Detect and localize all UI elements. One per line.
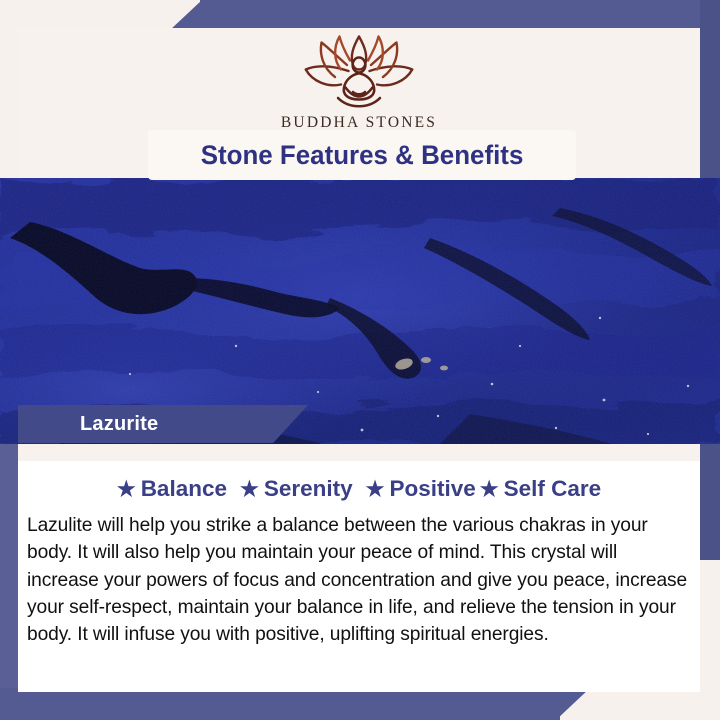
stone-description: Lazulite will help you strike a balance …: [27, 512, 693, 648]
stone-name-banner: Lazurite: [18, 405, 308, 443]
star-icon: ★: [480, 479, 499, 500]
benefit-item-serenity: ★ Serenity: [240, 476, 353, 502]
lotus-meditation-logo-icon: [283, 32, 435, 110]
frame-band-top-notch: [170, 0, 202, 30]
stone-name: Lazurite: [80, 413, 158, 436]
stone-info-card: BUDDHA STONES: [0, 0, 720, 720]
frame-band-bottom-notch: [556, 688, 590, 720]
lazurite-stone-image: [0, 178, 720, 444]
stone-details-panel: ★ Balance ★ Serenity ★ Positive ★ Self C…: [18, 444, 700, 692]
benefit-label: Self Care: [504, 476, 602, 502]
frame-band-top: [200, 0, 720, 30]
stone-photo: [0, 178, 720, 444]
panel-top-divider: [18, 444, 700, 461]
frame-band-bottom: [0, 688, 560, 720]
page-title: Stone Features & Benefits: [201, 140, 524, 171]
benefit-label: Positive: [389, 476, 475, 502]
benefit-item-balance: ★ Balance: [117, 476, 227, 502]
star-icon: ★: [240, 479, 259, 500]
benefit-item-positive: ★ Positive: [366, 476, 476, 502]
benefits-row: ★ Balance ★ Serenity ★ Positive ★ Self C…: [18, 476, 700, 502]
star-icon: ★: [366, 479, 385, 500]
star-icon: ★: [117, 479, 136, 500]
frame-band-left: [0, 443, 18, 720]
benefit-item-self-care: ★ Self Care: [480, 476, 601, 502]
benefit-label: Serenity: [264, 476, 353, 502]
page-title-plaque: Stone Features & Benefits: [148, 130, 576, 180]
brand-logo: BUDDHA STONES: [18, 32, 700, 132]
benefit-label: Balance: [141, 476, 227, 502]
